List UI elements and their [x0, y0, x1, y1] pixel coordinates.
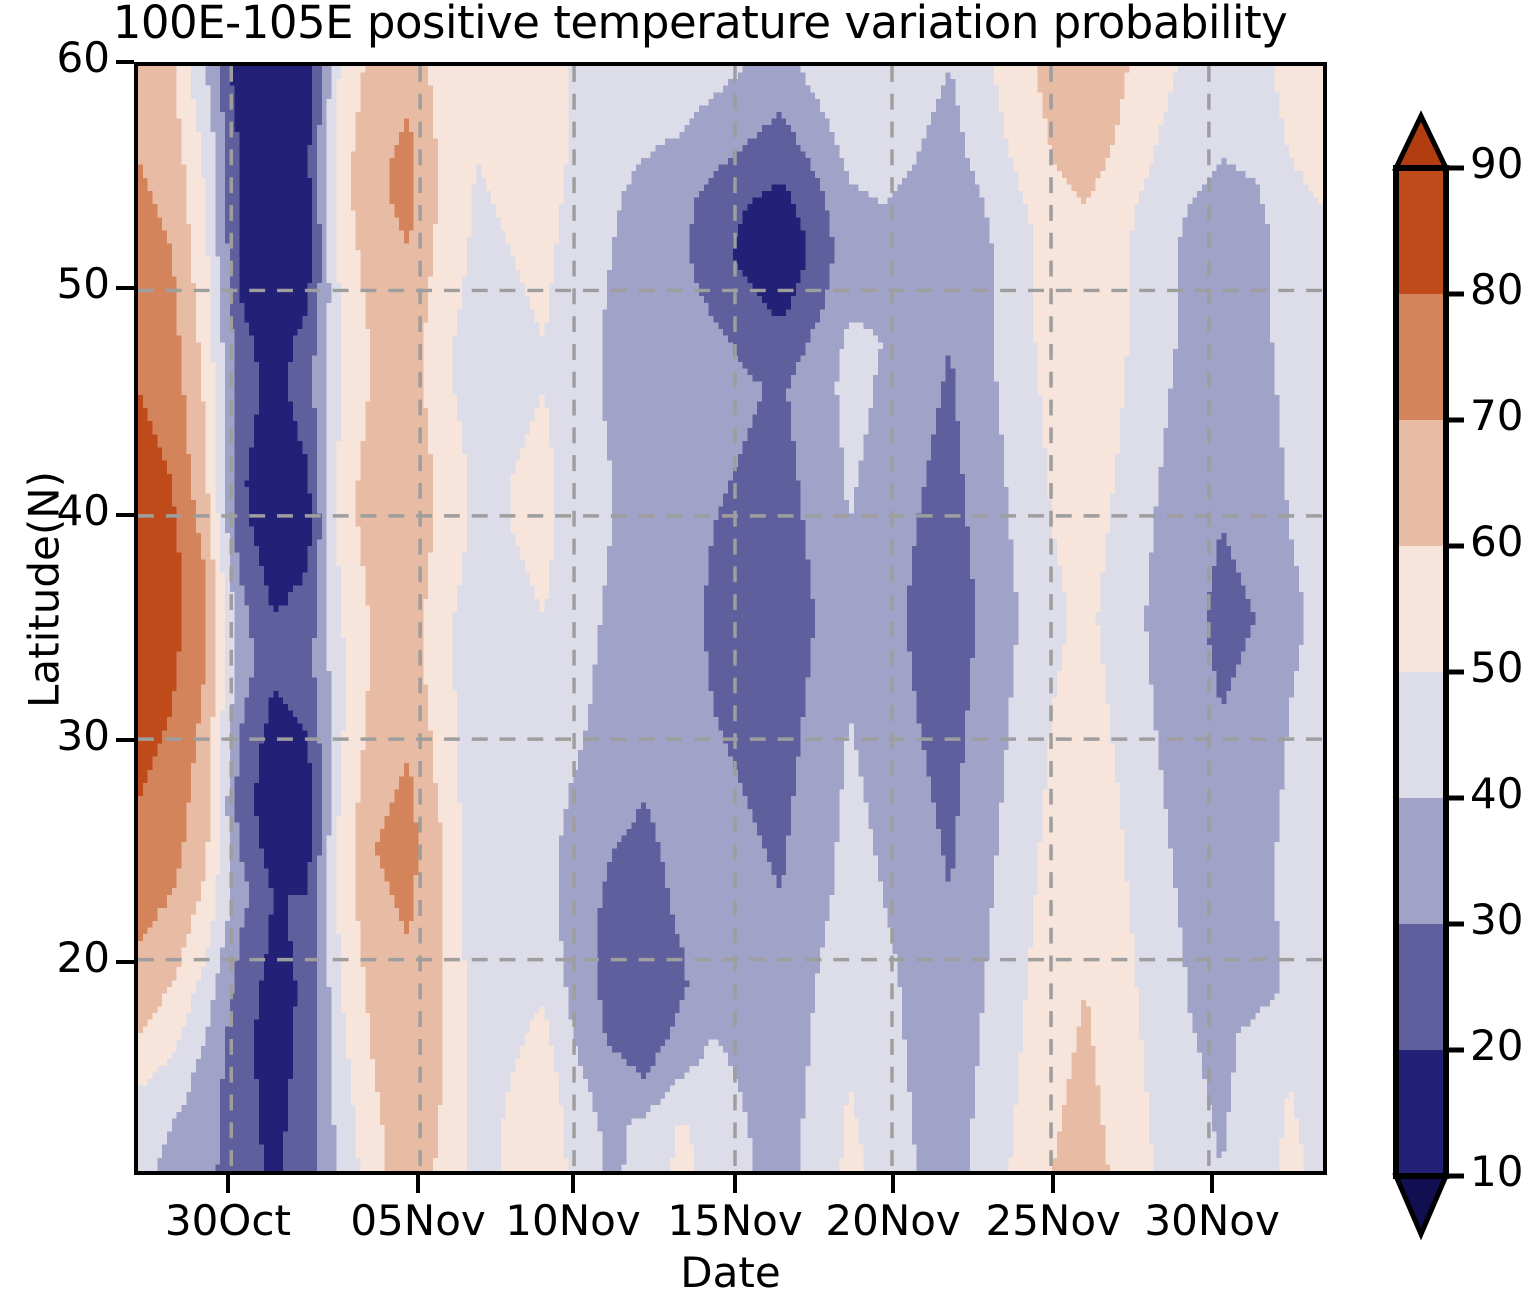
page-title: 100E-105E positive temperature variation…	[0, 0, 1400, 49]
y-tick-mark	[116, 60, 134, 64]
colorbar-extend-max	[1396, 116, 1446, 168]
colorbar-band	[1396, 924, 1446, 1051]
y-tick-mark	[116, 960, 134, 964]
y-tick-mark	[116, 286, 134, 290]
y-tick-label: 20	[0, 933, 110, 982]
colorbar-tick-label: 50	[1470, 643, 1523, 692]
y-tick-label: 60	[0, 33, 110, 82]
colorbar-tick-label: 10	[1470, 1147, 1523, 1196]
colorbar-band	[1396, 546, 1446, 673]
y-tick-mark	[116, 738, 134, 742]
colorbar-tick-label: 70	[1470, 391, 1523, 440]
colorbar-tick-label: 80	[1470, 265, 1523, 314]
x-tick-mark	[416, 1175, 420, 1193]
colorbar-tick-label: 90	[1470, 139, 1523, 188]
colorbar-band	[1396, 294, 1446, 421]
x-tick-mark	[1051, 1175, 1055, 1193]
x-tick-mark	[226, 1175, 230, 1193]
chart-root: 100E-105E positive temperature variation…	[0, 0, 1530, 1290]
x-tick-mark	[891, 1175, 895, 1193]
colorbar-tick-label: 40	[1470, 769, 1523, 818]
plot-area	[134, 62, 1327, 1175]
x-tick-label: 30Oct	[128, 1196, 328, 1245]
colorbar-band	[1396, 672, 1446, 799]
colorbar-swatches	[1396, 58, 1446, 1178]
x-tick-mark	[733, 1175, 737, 1193]
colorbar-band	[1396, 798, 1446, 925]
colorbar	[1396, 58, 1446, 1178]
colorbar-tick-label: 30	[1470, 895, 1523, 944]
colorbar-extend-min	[1396, 1176, 1446, 1234]
y-axis-title: Latitude(N)	[20, 350, 69, 830]
colorbar-tick-label: 20	[1470, 1021, 1523, 1070]
colorbar-band	[1396, 168, 1446, 295]
colorbar-band	[1396, 420, 1446, 547]
x-tick-mark	[571, 1175, 575, 1193]
y-tick-label: 50	[0, 259, 110, 308]
colorbar-band	[1396, 1050, 1446, 1177]
y-tick-mark	[116, 513, 134, 517]
colorbar-tick-label: 60	[1470, 517, 1523, 566]
x-tick-mark	[1210, 1175, 1214, 1193]
contour-field	[138, 66, 1323, 1171]
x-tick-label: 30Nov	[1112, 1196, 1312, 1245]
